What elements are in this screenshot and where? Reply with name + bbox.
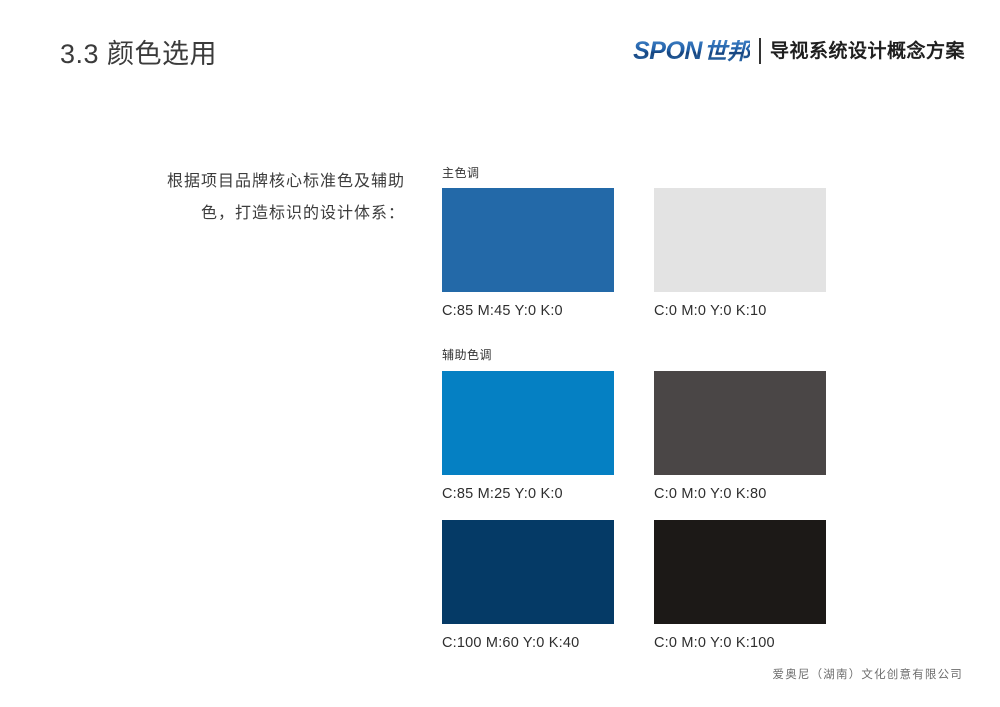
swatch-grid-secondary: C:85 M:25 Y:0 K:0 C:0 M:0 Y:0 K:80 C:100…	[442, 371, 827, 669]
color-swatch	[654, 188, 826, 292]
palette-group-label: 主色调	[442, 166, 827, 180]
palette-group-secondary: 辅助色调 C:85 M:25 Y:0 K:0 C:0 M:0 Y:0 K:80 …	[442, 348, 827, 668]
swatch-caption: C:85 M:25 Y:0 K:0	[442, 486, 614, 502]
color-palette: 主色调 C:85 M:45 Y:0 K:0 C:0 M:0 Y:0 K:10 辅…	[442, 166, 827, 669]
color-swatch	[654, 371, 826, 475]
swatch-item: C:0 M:0 Y:0 K:10	[654, 188, 826, 337]
swatch-caption: C:0 M:0 Y:0 K:10	[654, 303, 826, 319]
swatch-item: C:0 M:0 Y:0 K:80	[654, 371, 826, 520]
brand-subtitle: 导视系统设计概念方案	[770, 42, 965, 61]
swatch-item: C:100 M:60 Y:0 K:40	[442, 520, 614, 669]
spon-logo-cn-text: 世邦	[704, 40, 750, 63]
intro-paragraph: 根据项目品牌核心标准色及辅助色，打造标识的设计体系：	[160, 166, 405, 230]
brand-lockup: SPON 世邦 导视系统设计概念方案	[633, 36, 965, 66]
palette-group-primary: 主色调 C:85 M:45 Y:0 K:0 C:0 M:0 Y:0 K:10	[442, 166, 827, 337]
spon-logo-text: SPON	[633, 39, 704, 64]
palette-group-label: 辅助色调	[442, 348, 827, 362]
swatch-item: C:85 M:25 Y:0 K:0	[442, 371, 614, 520]
swatch-caption: C:0 M:0 Y:0 K:80	[654, 486, 826, 502]
color-swatch	[442, 188, 614, 292]
swatch-caption: C:0 M:0 Y:0 K:100	[654, 635, 826, 651]
page-header: 3.3 颜色选用 SPON 世邦 导视系统设计概念方案	[0, 0, 1000, 95]
swatch-caption: C:100 M:60 Y:0 K:40	[442, 635, 614, 651]
color-swatch	[442, 371, 614, 475]
swatch-item: C:85 M:45 Y:0 K:0	[442, 188, 614, 337]
brand-divider	[759, 38, 761, 64]
swatch-grid-primary: C:85 M:45 Y:0 K:0 C:0 M:0 Y:0 K:10	[442, 188, 827, 337]
swatch-item: C:0 M:0 Y:0 K:100	[654, 520, 826, 669]
footer-company-name: 爱奥尼（湖南）文化创意有限公司	[773, 666, 964, 682]
color-swatch	[442, 520, 614, 624]
page-title: 3.3 颜色选用	[60, 32, 217, 71]
color-swatch	[654, 520, 826, 624]
swatch-caption: C:85 M:45 Y:0 K:0	[442, 303, 614, 319]
